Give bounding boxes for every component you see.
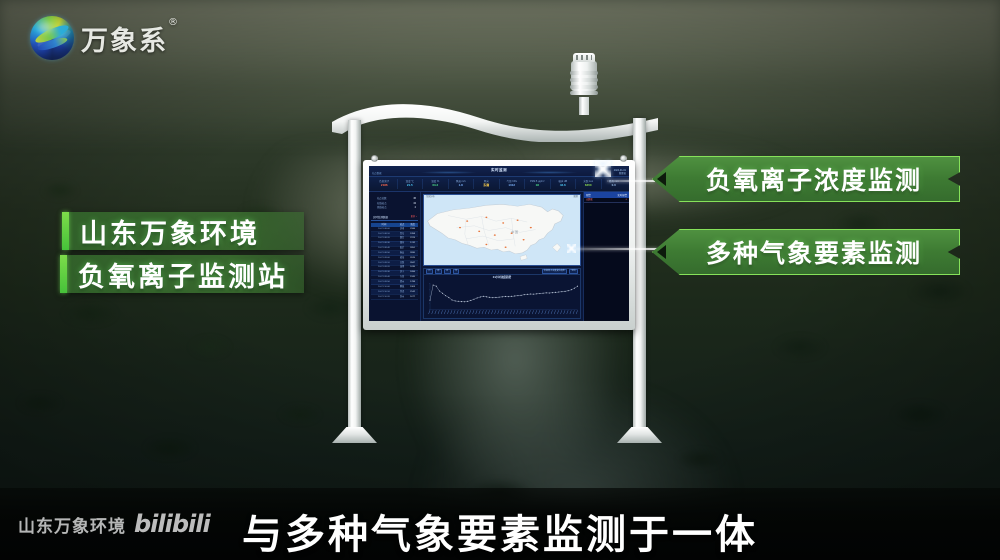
alert-status-text: 无数据 — [586, 199, 593, 202]
weather-sensor — [567, 53, 601, 115]
right-banner-ion-text: 负氧离子浓度监测 — [690, 161, 922, 197]
chart-range-chip[interactable]: 月 — [444, 269, 451, 274]
stat-row: 站点总数36 — [377, 197, 416, 200]
left-banner-company-text: 山东万象环境 — [80, 212, 260, 251]
dashboard-left-column: 站点总数36在线站点34离线站点2 实时监测数据 更多 > 时间站点浓度 10-… — [369, 192, 421, 321]
right-banner-weather-monitoring: 多种气象要素监测 — [652, 229, 960, 275]
metric-cell: 气压 hPa1012 — [500, 179, 526, 189]
metric-value: 东南 — [474, 184, 499, 188]
map-region-name: 中国 — [511, 231, 518, 235]
video-subtitle: 与多种气象要素监测于一体 — [0, 502, 1000, 560]
monitor-mount-right — [620, 155, 627, 162]
bottom-subtitle-bar: 山东万象环境 bilibili 与多种气象要素监测于一体 — [0, 488, 1000, 560]
stat-label: 站点总数 — [377, 197, 387, 200]
monitor-mount-left — [371, 155, 378, 162]
callout-marker-top — [595, 161, 611, 177]
left-banner-station: 负氧离子监测站 — [60, 255, 304, 293]
metric-value: 63.2 — [423, 184, 448, 188]
data-table[interactable]: 时间站点浓度 10-21 08:00济南218610-21 08:10青岛195… — [371, 223, 418, 300]
right-banner-notch-icon — [657, 172, 666, 186]
metric-cell: 湿度 %63.2 — [423, 179, 449, 189]
data-table-more-link[interactable]: 更多 > — [411, 216, 417, 219]
table-cell: 10-21 10:20 — [371, 294, 397, 299]
post-base-left — [332, 427, 377, 443]
metric-cell: 噪声 dB42.6 — [551, 179, 577, 189]
table-body: 10-21 08:00济南218610-21 08:10青岛195810-21 … — [371, 227, 418, 299]
data-table-header: 实时监测数据 更多 > — [371, 215, 418, 221]
left-label-group: 山东万象环境 负氧离子监测站 — [62, 212, 304, 298]
data-table-title: 实时监测数据 — [373, 216, 388, 219]
metric-value: 18 — [525, 184, 550, 188]
table-cell: 滨州 — [397, 294, 407, 299]
stat-value: 34 — [413, 202, 416, 205]
dashboard-header-right: 2024-01-01 管理员 — [614, 169, 626, 175]
dashboard-right-column: 预警 实时报警 无数据 0 — [583, 192, 629, 321]
metric-strip: 负氧离子2186温度 ℃21.5湿度 %63.2风速 m/s1.8风向东南气压 … — [369, 177, 629, 192]
dashboard-center-column: 全国分布 图例 中国 日周月年 负氧离子浓度变化趋势 导出 24小时浓度趋势 — [421, 192, 583, 321]
metric-cell: 风速 m/s1.8 — [449, 179, 475, 189]
china-map[interactable]: 全国分布 图例 中国 — [423, 194, 581, 266]
chart-range-chip[interactable]: 年 — [453, 269, 460, 274]
right-banner-notch-icon-2 — [657, 245, 666, 259]
trend-chart-panel: 日周月年 负氧离子浓度变化趋势 导出 24小时浓度趋势 — [423, 268, 581, 319]
metric-value: 8450 — [576, 184, 601, 188]
station-stats: 站点总数36在线站点34离线站点2 — [371, 194, 418, 212]
chart-legend-text: 负氧离子浓度变化趋势 — [542, 269, 568, 274]
display-monitor[interactable]: 站点数据 实时监测 2024-01-01 管理员 负氧离子2186温度 ℃21.… — [363, 160, 635, 330]
stat-label: 离线站点 — [377, 206, 387, 209]
kiosk-top-rail — [330, 92, 660, 142]
metric-cell: PM2.5 μg/m³18 — [525, 179, 551, 189]
metric-value: 21.5 — [398, 184, 423, 188]
right-banner-ion-monitoring: 负氧离子浓度监测 — [652, 156, 960, 202]
stat-value: 36 — [413, 197, 416, 200]
metric-cell: 温度 ℃21.5 — [398, 179, 424, 189]
trend-line-chart — [424, 275, 580, 318]
alert-status-count: 0 — [626, 199, 627, 202]
metric-value: 2186 — [372, 184, 397, 188]
callout-connector-top — [607, 180, 655, 182]
chart-plot-area — [424, 275, 580, 318]
left-banner-station-text: 负氧离子监测站 — [78, 255, 288, 294]
callout-connector-middle — [574, 248, 658, 250]
metric-cell: 风向东南 — [474, 179, 500, 189]
stat-label: 在线站点 — [377, 202, 387, 205]
right-banner-weather-text: 多种气象要素监测 — [690, 234, 922, 270]
chart-export-button[interactable]: 导出 — [569, 269, 578, 274]
stat-row: 离线站点2 — [377, 206, 416, 209]
alert-panel-subtitle: 实时报警 — [617, 194, 627, 197]
map-label-right: 图例 — [574, 196, 578, 199]
dashboard-body: 站点总数36在线站点34离线站点2 实时监测数据 更多 > 时间站点浓度 10-… — [369, 192, 629, 321]
table-row[interactable]: 10-21 10:20滨州1677 — [371, 294, 418, 299]
metric-cell: 光照 Lux8450 — [576, 179, 602, 189]
alert-panel-body — [584, 203, 629, 321]
stat-row: 在线站点34 — [377, 202, 416, 205]
chart-range-chip[interactable]: 日 — [426, 269, 433, 274]
metric-value: 0.0 — [602, 184, 627, 188]
dashboard-screen[interactable]: 站点数据 实时监测 2024-01-01 管理员 负氧离子2186温度 ℃21.… — [369, 166, 629, 321]
post-base-right — [617, 427, 662, 443]
map-label-left: 全国分布 — [426, 196, 435, 199]
metric-value: 42.6 — [551, 184, 576, 188]
metric-value: 1.8 — [449, 184, 474, 188]
chart-range-chip[interactable]: 周 — [435, 269, 442, 274]
right-label-group: 负氧离子浓度监测 多种气象要素监测 — [652, 156, 960, 302]
chart-title: 24小时浓度趋势 — [424, 276, 580, 279]
dashboard-user: 管理员 — [614, 172, 626, 175]
stat-value: 2 — [415, 206, 416, 209]
callout-marker-middle — [567, 244, 576, 253]
dashboard-title: 实时监测 — [369, 168, 629, 172]
left-banner-company: 山东万象环境 — [62, 212, 304, 250]
table-cell: 1677 — [407, 294, 418, 299]
metric-cell: 负氧离子2186 — [372, 179, 398, 189]
dashboard-header: 站点数据 实时监测 2024-01-01 管理员 — [369, 166, 629, 177]
support-post-left — [348, 120, 361, 436]
metric-value: 1012 — [500, 184, 525, 188]
alert-panel-title: 预警 — [586, 194, 591, 197]
